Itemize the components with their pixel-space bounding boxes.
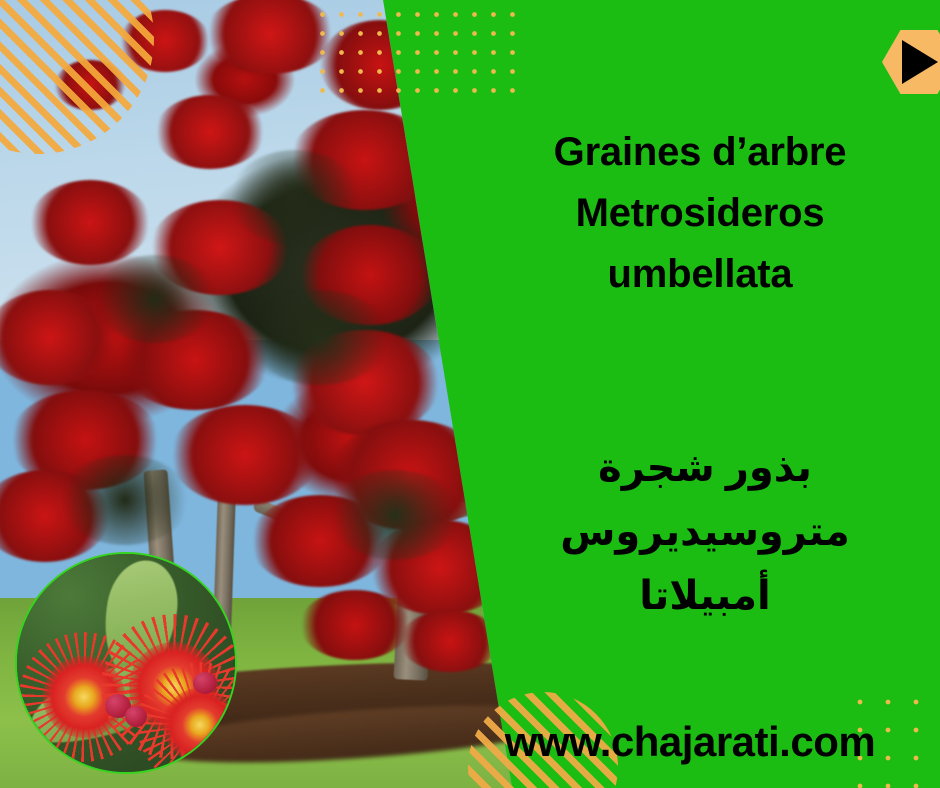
title-french-line2: Metrosideros — [470, 183, 930, 244]
title-french-line1: Graines d’arbre — [470, 122, 930, 183]
flower-closeup-inset — [15, 552, 237, 774]
title-arabic-line2: متروسيديروس — [480, 500, 930, 564]
poster-canvas: Graines d’arbre Metrosideros umbellata ب… — [0, 0, 940, 788]
blossom-cluster — [300, 590, 410, 660]
flower-bud — [125, 706, 147, 727]
foliage-mass — [95, 255, 215, 343]
title-arabic-line1: بذور شجرة — [480, 436, 930, 500]
blossom-cluster — [170, 405, 320, 505]
foliage-mass — [250, 290, 390, 385]
flower-bud — [193, 672, 217, 694]
title-arabic-line3: أمبيلاتا — [480, 564, 930, 628]
blossom-cluster — [30, 180, 150, 265]
foliage-mass — [330, 470, 460, 560]
dot-grid-pattern-top — [310, 2, 528, 102]
blossom-cluster — [155, 95, 265, 169]
flower-bloom — [163, 688, 237, 762]
website-url[interactable]: www.chajarati.com — [440, 718, 940, 766]
title-arabic: بذور شجرة متروسيديروس أمبيلاتا — [480, 436, 930, 628]
foliage-mass — [60, 455, 190, 545]
foliage-mass — [230, 150, 360, 245]
title-french-line3: umbellata — [470, 244, 930, 305]
play-triangle-icon[interactable] — [902, 40, 938, 84]
title-french: Graines d’arbre Metrosideros umbellata — [470, 122, 930, 305]
